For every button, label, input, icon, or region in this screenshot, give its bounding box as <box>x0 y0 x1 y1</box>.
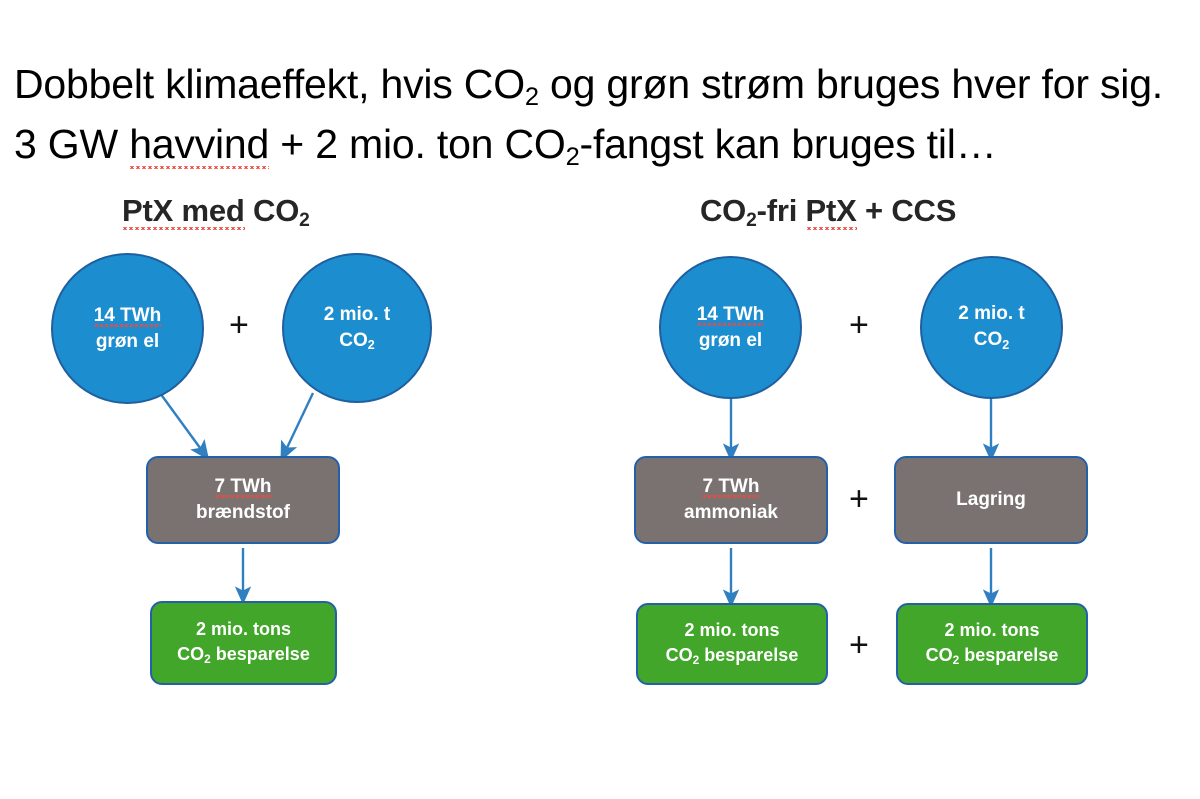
node-right-green1-line1: 2 mio. tons <box>684 620 779 640</box>
node-right-gray-ammonia[interactable]: 7 TWh ammoniak <box>634 456 828 544</box>
node-right-green-saving-2[interactable]: 2 mio. tons CO2 besparelse <box>896 603 1088 685</box>
column-heading-left-co: CO <box>245 193 300 228</box>
node-right-circle1-line1: 14 TWh <box>697 304 765 326</box>
plus-right-bottom: + <box>849 628 869 662</box>
node-left-green-line2-rest: besparelse <box>211 644 310 664</box>
column-heading-left-misspelled: PtX med <box>122 193 245 230</box>
node-left-gray-line1: 7 TWh <box>215 476 272 498</box>
node-right-gray-storage[interactable]: Lagring <box>894 456 1088 544</box>
node-right-green2-line1: 2 mio. tons <box>944 620 1039 640</box>
node-left-circle-co2-text: 2 mio. t CO2 <box>324 302 391 355</box>
node-right-green-saving-2-text: 2 mio. tons CO2 besparelse <box>926 618 1059 670</box>
node-left-circle-green-el-text: 14 TWh grøn el <box>94 303 162 355</box>
column-heading-right-subscript: 2 <box>746 210 756 231</box>
column-heading-right: CO2-fri PtX + CCS <box>700 193 956 229</box>
title-line-2-part-b: + 2 mio. ton CO <box>269 121 565 167</box>
arrow-left-circle2-to-gray <box>285 393 313 452</box>
node-right-green2-line2-co: CO <box>926 645 953 665</box>
node-right-gray-storage-text: Lagring <box>956 487 1026 513</box>
node-right-green-saving-1[interactable]: 2 mio. tons CO2 besparelse <box>636 603 828 685</box>
plus-right-middle: + <box>849 482 869 516</box>
title-line-2-part-a: 3 GW <box>14 121 129 167</box>
node-left-circle-co2[interactable]: 2 mio. t CO2 <box>282 253 432 403</box>
plus-right-top: + <box>849 308 869 342</box>
node-right-green-saving-1-text: 2 mio. tons CO2 besparelse <box>666 618 799 670</box>
arrow-left-circle1-to-gray <box>160 393 203 452</box>
node-right-gray1-line2: ammoniak <box>684 502 778 523</box>
node-left-circle1-line1: 14 TWh <box>94 305 162 327</box>
column-heading-left: PtX med CO2 <box>122 193 310 229</box>
node-right-gray-ammonia-text: 7 TWh ammoniak <box>684 474 778 526</box>
title-misspelled-word: havvind <box>129 121 269 169</box>
slide-canvas: Dobbelt klimaeffekt, hvis CO2 og grøn st… <box>0 0 1200 799</box>
node-left-green-line2-co: CO <box>177 644 204 664</box>
title-line-2-subscript: 2 <box>566 143 580 171</box>
node-right-circle2-line2: CO <box>974 329 1003 350</box>
node-left-gray-fuel-text: 7 TWh brændstof <box>196 474 290 526</box>
node-left-circle2-line2-sub: 2 <box>368 338 375 352</box>
node-left-green-saving-text: 2 mio. tons CO2 besparelse <box>177 617 310 669</box>
column-heading-right-part-b: -fri <box>757 193 806 228</box>
node-right-circle-co2-text: 2 mio. t CO2 <box>958 301 1025 354</box>
column-heading-left-subscript: 2 <box>299 210 309 231</box>
node-right-circle1-line2: grøn el <box>699 330 762 351</box>
node-right-green2-line2-rest: besparelse <box>959 645 1058 665</box>
node-right-circle-green-el-text: 14 TWh grøn el <box>697 302 765 354</box>
column-heading-right-part-c: + CCS <box>857 193 957 228</box>
node-left-green-saving[interactable]: 2 mio. tons CO2 besparelse <box>150 601 337 685</box>
node-left-circle1-line2: grøn el <box>96 331 159 352</box>
node-right-green1-line2-rest: besparelse <box>699 645 798 665</box>
node-right-green1-line2-sub: 2 <box>693 653 700 667</box>
column-heading-right-part-a: CO <box>700 193 746 228</box>
node-right-circle2-line1: 2 mio. t <box>958 303 1025 324</box>
node-left-green-line1: 2 mio. tons <box>196 619 291 639</box>
title-line-1: Dobbelt klimaeffekt, hvis CO2 og grøn st… <box>14 57 1194 117</box>
node-left-circle2-line2: CO <box>339 330 368 351</box>
node-right-circle-co2[interactable]: 2 mio. t CO2 <box>920 256 1063 399</box>
title-line-1-part-b: og grøn strøm bruges hver for sig. <box>539 61 1163 107</box>
node-left-gray-fuel[interactable]: 7 TWh brændstof <box>146 456 340 544</box>
node-right-gray2-line1: Lagring <box>956 489 1026 510</box>
title-line-2: 3 GW havvind + 2 mio. ton CO2-fangst kan… <box>14 117 1194 177</box>
node-left-circle2-line1: 2 mio. t <box>324 304 391 325</box>
node-left-green-line2-sub: 2 <box>204 652 211 666</box>
node-right-green1-line2-co: CO <box>666 645 693 665</box>
node-right-gray1-line1: 7 TWh <box>702 476 759 498</box>
title-line-1-subscript: 2 <box>525 83 539 111</box>
title-line-2-part-c: -fangst kan bruges til… <box>580 121 997 167</box>
slide-title: Dobbelt klimaeffekt, hvis CO2 og grøn st… <box>14 57 1194 177</box>
node-left-gray-line2: brændstof <box>196 502 290 523</box>
node-right-green2-line2-sub: 2 <box>953 653 960 667</box>
column-heading-right-misspelled: PtX <box>806 193 857 230</box>
node-right-circle2-line2-sub: 2 <box>1002 338 1009 352</box>
title-line-1-part-a: Dobbelt klimaeffekt, hvis CO <box>14 61 525 107</box>
plus-left-top: + <box>229 308 249 342</box>
node-right-circle-green-el[interactable]: 14 TWh grøn el <box>659 256 802 399</box>
node-left-circle-green-el[interactable]: 14 TWh grøn el <box>51 253 204 404</box>
